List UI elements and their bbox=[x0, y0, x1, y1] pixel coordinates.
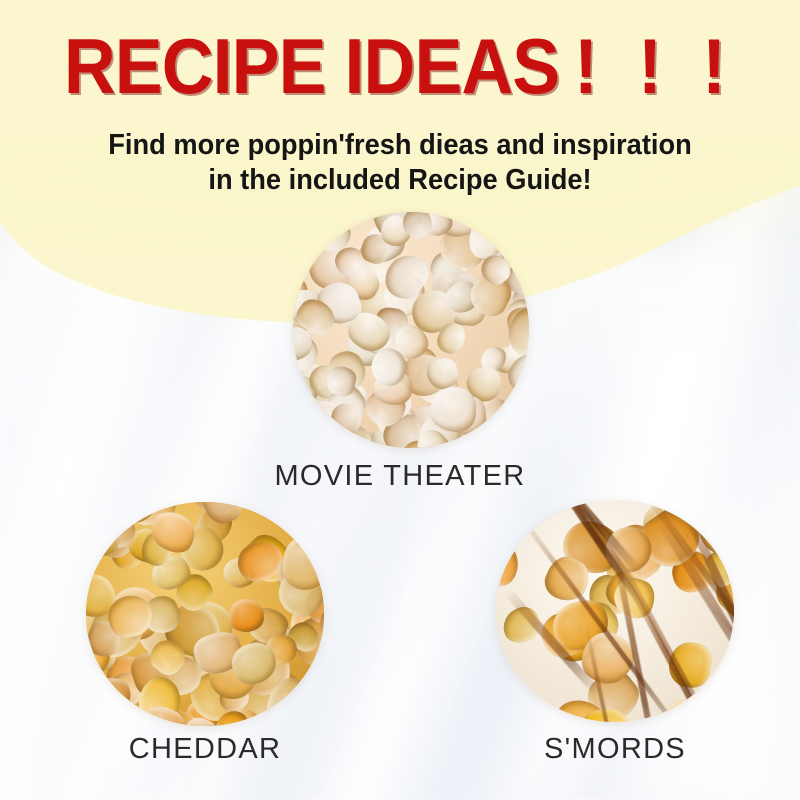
subtitle: Find more poppin'fresh dieas and inspira… bbox=[24, 128, 776, 198]
flavor-photo-movie-theater bbox=[293, 212, 529, 448]
page-title-exclamations: ! ! ! bbox=[574, 22, 736, 110]
popcorn-kernels-cheddar bbox=[86, 502, 324, 726]
page-title: RECIPE IDEAS! ! ! bbox=[32, 24, 768, 108]
poster-canvas: RECIPE IDEAS! ! ! Find more poppin'fresh… bbox=[0, 0, 800, 800]
flavor-label-cheddar: CHEDDAR bbox=[86, 733, 324, 766]
flavor-label-movie-theater: MOVIE THEATER bbox=[0, 460, 800, 493]
flavor-label-smords: S'MORDS bbox=[496, 733, 734, 766]
popcorn-kernels-movie-theater bbox=[293, 212, 529, 448]
subtitle-line-1: Find more poppin'fresh dieas and inspira… bbox=[108, 129, 692, 161]
flavor-photo-cheddar bbox=[86, 502, 324, 726]
page-title-text: RECIPE IDEAS bbox=[64, 22, 559, 110]
caramel-drizzle-overlay bbox=[496, 500, 734, 722]
subtitle-line-2: in the included Recipe Guide! bbox=[24, 163, 776, 198]
flavor-photo-smords bbox=[496, 500, 734, 722]
